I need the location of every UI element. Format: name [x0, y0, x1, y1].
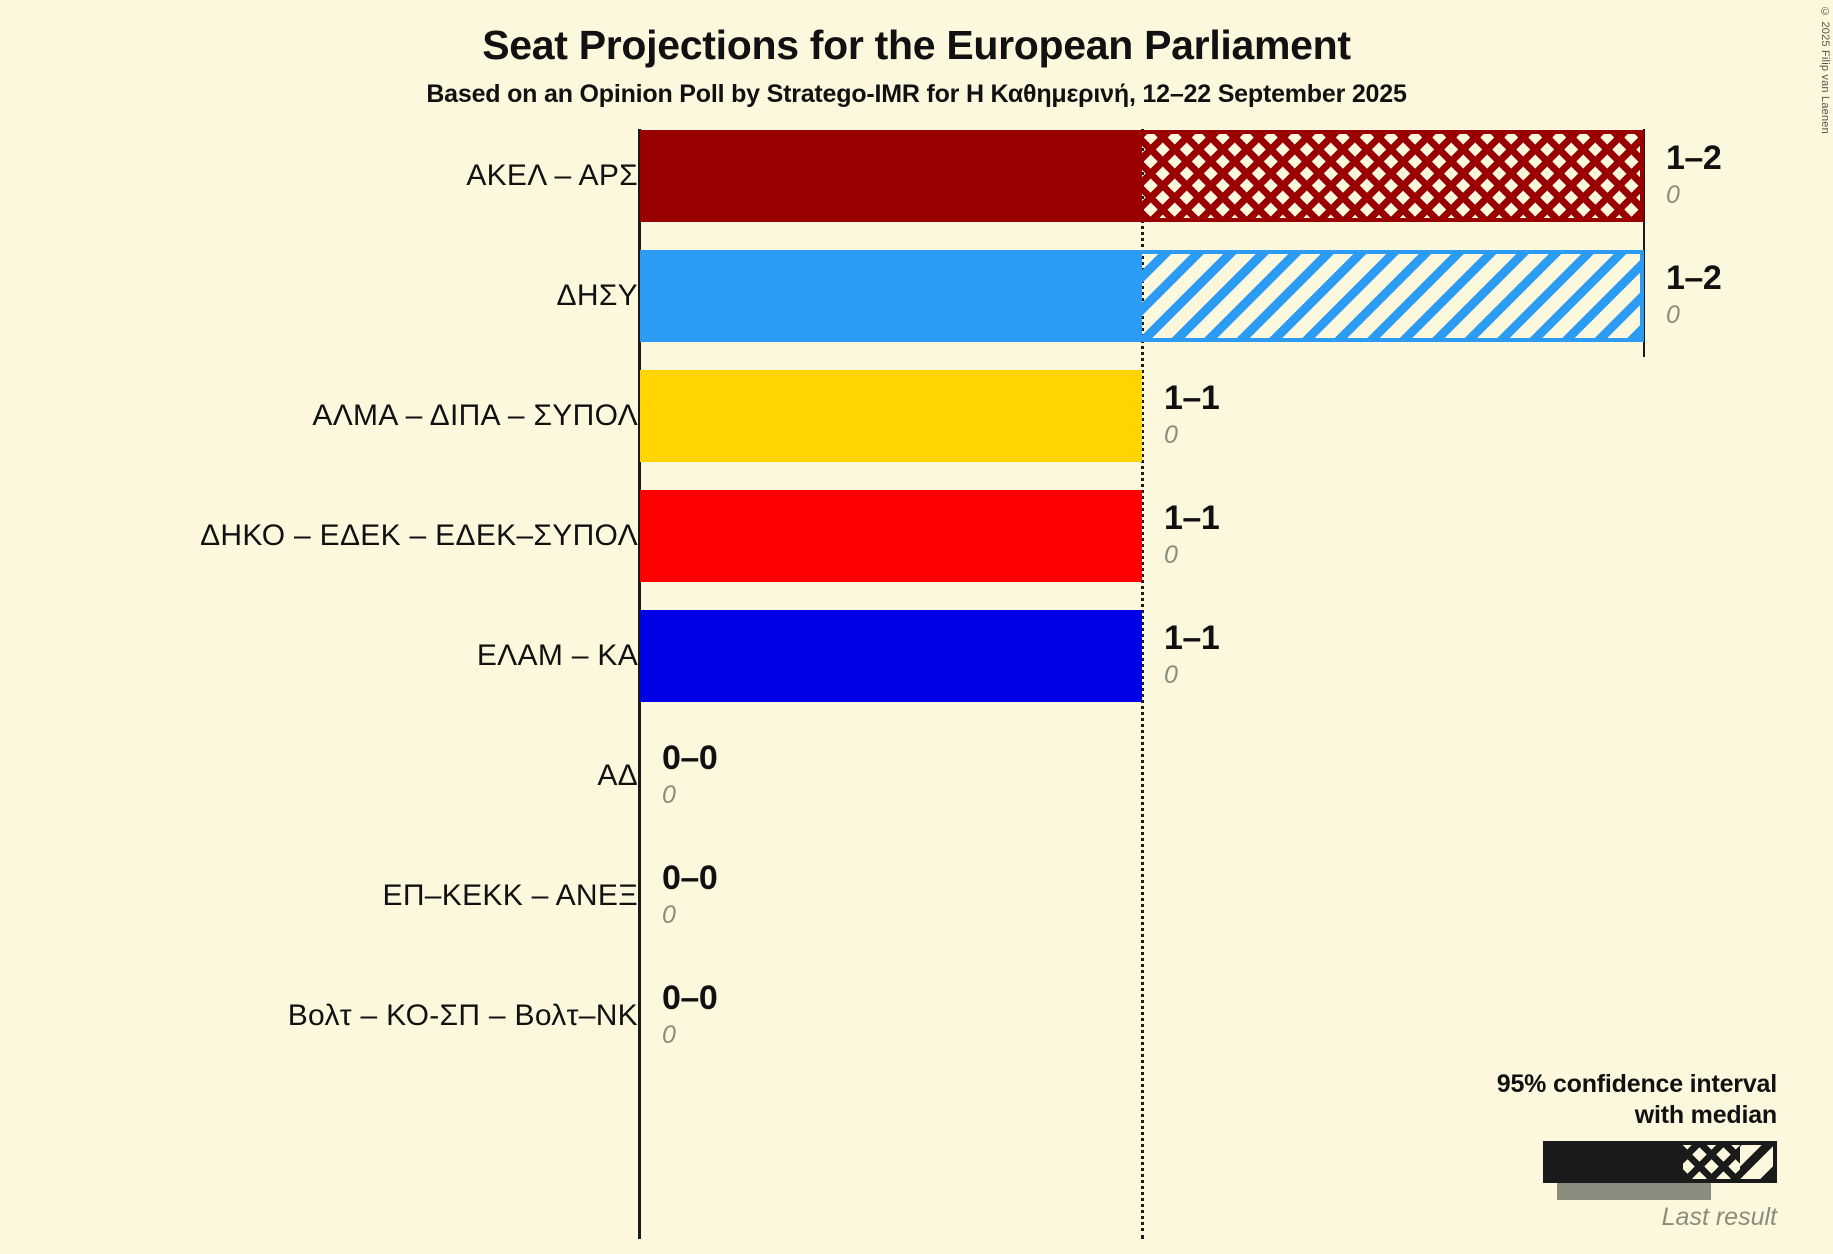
legend-caption-line2: with median: [1447, 1100, 1777, 1131]
legend-segment-median: [1543, 1141, 1683, 1183]
legend-segment-cross-hatch: [1683, 1141, 1740, 1183]
row-value-block: 0–00: [662, 981, 717, 1051]
seat-range-label: 1–1: [1164, 621, 1219, 655]
seat-range-label: 0–0: [662, 981, 717, 1015]
row-label-party: ΑΛΜΑ – ΔΙΠΑ – ΣΥΠΟΛ: [312, 399, 638, 433]
chart-row: ΕΠ–ΚΕΚΚ – ΑΝΕΞ0–00: [0, 850, 1833, 942]
row-label-party: Βολτ – ΚΟ-ΣΠ – Βολτ–ΝΚ: [288, 999, 638, 1033]
row-label-party: ΑΚΕΛ – ΑΡΣ: [466, 159, 638, 193]
copyright-notice: © 2025 Filip van Laenen: [1819, 6, 1831, 134]
legend-caption-line1: 95% confidence interval: [1447, 1069, 1777, 1100]
seat-range-label: 0–0: [662, 861, 717, 895]
row-value-block: 1–10: [1164, 621, 1219, 691]
chart-row: ΔΗΚΟ – ΕΔΕΚ – ΕΔΕΚ–ΣΥΠΟΛ1–10: [0, 490, 1833, 582]
bar-median-segment: [640, 130, 1142, 222]
last-result-label: 0: [662, 780, 717, 811]
row-value-block: 1–20: [1666, 141, 1721, 211]
bar-group: [640, 250, 1644, 342]
bar-confidence-interval-segment: [1142, 250, 1644, 342]
bar-median-segment: [640, 490, 1142, 582]
bar-group: [640, 370, 1142, 462]
row-value-block: 1–10: [1164, 381, 1219, 451]
bar-median-segment: [640, 250, 1142, 342]
page-title: Seat Projections for the European Parlia…: [0, 24, 1833, 67]
row-label-party: ΕΠ–ΚΕΚΚ – ΑΝΕΞ: [383, 879, 638, 913]
bar-confidence-interval-segment: [1142, 130, 1644, 222]
row-label-party: ΕΛΑΜ – ΚΑ: [477, 639, 638, 673]
legend-last-result-label: Last result: [1447, 1205, 1777, 1230]
chart-subtitle: Based on an Opinion Poll by Stratego-IMR…: [0, 81, 1833, 107]
chart-row: ΑΚΕΛ – ΑΡΣ1–20: [0, 130, 1833, 222]
last-result-label: 0: [1666, 300, 1721, 331]
seat-range-label: 1–2: [1666, 141, 1721, 175]
seat-range-label: 1–2: [1666, 261, 1721, 295]
last-result-label: 0: [662, 1020, 717, 1051]
legend-swatch: [1543, 1141, 1777, 1183]
chart-row: ΔΗΣΥ1–20: [0, 250, 1833, 342]
chart-legend: 95% confidence interval with median Last…: [1447, 1069, 1777, 1230]
row-value-block: 1–10: [1164, 501, 1219, 571]
seat-range-label: 1–1: [1164, 501, 1219, 535]
row-label-party: ΔΗΣΥ: [557, 279, 638, 313]
last-result-label: 0: [1666, 180, 1721, 211]
row-value-block: 0–00: [662, 741, 717, 811]
last-result-label: 0: [662, 900, 717, 931]
chart-row: ΑΛΜΑ – ΔΙΠΑ – ΣΥΠΟΛ1–10: [0, 370, 1833, 462]
chart-header: Seat Projections for the European Parlia…: [0, 0, 1833, 107]
chart-row: ΕΛΑΜ – ΚΑ1–10: [0, 610, 1833, 702]
bar-group: [640, 610, 1142, 702]
chart-row: ΑΔ0–00: [0, 730, 1833, 822]
bar-group: [640, 130, 1644, 222]
last-result-label: 0: [1164, 540, 1219, 571]
bar-median-segment: [640, 610, 1142, 702]
last-result-label: 0: [1164, 420, 1219, 451]
legend-segment-diagonal-hatch: [1740, 1141, 1777, 1183]
row-label-party: ΔΗΚΟ – ΕΔΕΚ – ΕΔΕΚ–ΣΥΠΟΛ: [200, 519, 638, 553]
bar-group: [640, 490, 1142, 582]
seat-range-label: 1–1: [1164, 381, 1219, 415]
chart-row: Βολτ – ΚΟ-ΣΠ – Βολτ–ΝΚ0–00: [0, 970, 1833, 1062]
last-result-label: 0: [1164, 660, 1219, 691]
bar-median-segment: [640, 370, 1142, 462]
legend-last-result-bar: [1557, 1183, 1711, 1200]
row-value-block: 0–00: [662, 861, 717, 931]
row-value-block: 1–20: [1666, 261, 1721, 331]
seat-range-label: 0–0: [662, 741, 717, 775]
row-label-party: ΑΔ: [597, 759, 638, 793]
legend-caption: 95% confidence interval with median: [1447, 1069, 1777, 1130]
